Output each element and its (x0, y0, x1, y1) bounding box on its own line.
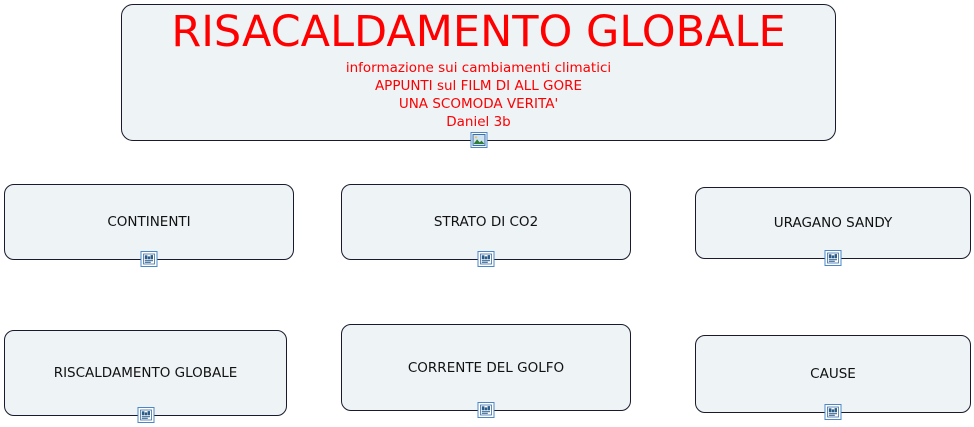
title-node[interactable]: RISACALDAMENTO GLOBALE informazione sui … (121, 4, 836, 141)
title-subtitle-line-3: UNA SCOMODA VERITA' (346, 95, 611, 113)
title-subtitle-line-2: APPUNTI sul FILM DI ALL GORE (346, 77, 611, 95)
mindmap-canvas: RISACALDAMENTO GLOBALE informazione sui … (0, 0, 974, 427)
node-strato-di-co2[interactable]: STRATO DI CO2 (341, 184, 631, 260)
title-subtitle-block: informazione sui cambiamenti climatici A… (346, 59, 611, 131)
node-label: CONTINENTI (107, 214, 190, 230)
title-subtitle-line-1: informazione sui cambiamenti climatici (346, 59, 611, 77)
image-icon[interactable] (470, 132, 487, 148)
node-cause[interactable]: CAUSE (695, 335, 971, 413)
title-subtitle-line-4: Daniel 3b (346, 113, 611, 131)
node-label: CAUSE (810, 366, 856, 382)
attachment-icon[interactable] (478, 402, 495, 418)
attachment-icon[interactable] (825, 250, 842, 266)
node-continenti[interactable]: CONTINENTI (4, 184, 294, 260)
node-uragano-sandy[interactable]: URAGANO SANDY (695, 187, 971, 259)
node-label: URAGANO SANDY (774, 215, 892, 231)
attachment-icon[interactable] (478, 251, 495, 267)
attachment-icon[interactable] (825, 404, 842, 420)
title-main-text: RISACALDAMENTO GLOBALE (171, 7, 785, 57)
node-label: CORRENTE DEL GOLFO (408, 360, 564, 376)
node-corrente-del-golfo[interactable]: CORRENTE DEL GOLFO (341, 324, 631, 411)
node-riscaldamento-globale[interactable]: RISCALDAMENTO GLOBALE (4, 330, 287, 416)
node-label: STRATO DI CO2 (434, 214, 538, 230)
node-label: RISCALDAMENTO GLOBALE (54, 365, 238, 381)
attachment-icon[interactable] (137, 407, 154, 423)
attachment-icon[interactable] (141, 251, 158, 267)
